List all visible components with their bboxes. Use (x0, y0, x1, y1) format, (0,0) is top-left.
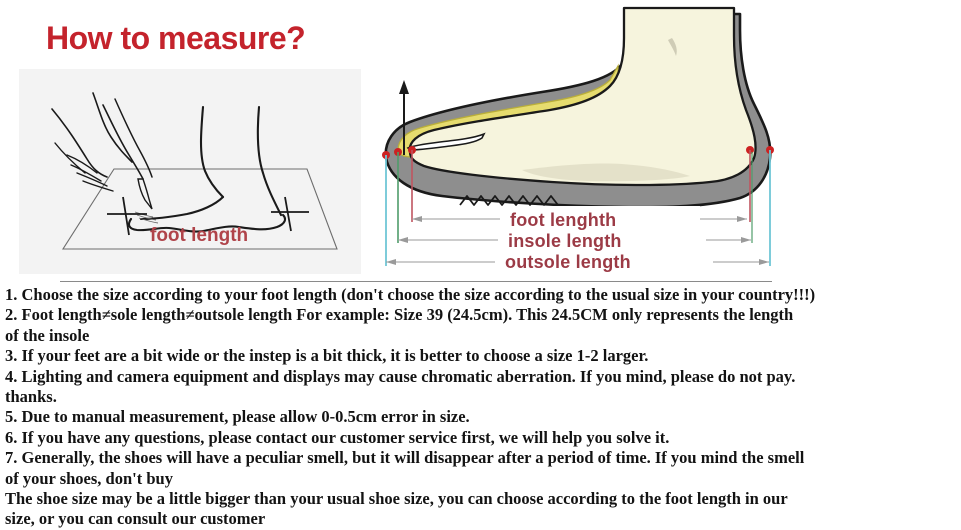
note-line: 1. Choose the size according to your foo… (5, 285, 958, 305)
note-line: 5. Due to manual measurement, please all… (5, 407, 958, 427)
note-line: of the insole (5, 326, 958, 346)
note-line: 4. Lighting and camera equipment and dis… (5, 367, 958, 387)
note-line: of your shoes, don't buy (5, 469, 958, 489)
shoe-diagram-panel: foot lenghth insole length outsole lengt… (372, 0, 961, 282)
outsole-length-dimension-label: outsole length (505, 252, 631, 273)
shoe-cross-section-illustration (372, 0, 961, 282)
note-line: size, or you can consult our customer (5, 509, 958, 529)
page-title: How to measure? (46, 18, 366, 58)
note-line: 2. Foot length≠sole length≠outsole lengt… (5, 305, 958, 325)
foot-length-dimension-label: foot lenghth (510, 210, 616, 231)
sizing-notes: 1. Choose the size according to your foo… (5, 285, 958, 530)
page-root: How to measure? (0, 0, 961, 530)
how-to-measure-panel: How to measure? (0, 0, 372, 282)
note-line: The shoe size may be a little bigger tha… (5, 489, 958, 509)
diagram-area: How to measure? (0, 0, 961, 282)
note-line: 6. If you have any questions, please con… (5, 428, 958, 448)
note-line: thanks. (5, 387, 958, 407)
section-divider (60, 281, 772, 282)
note-line: 3. If your feet are a bit wide or the in… (5, 346, 958, 366)
insole-length-dimension-label: insole length (508, 231, 622, 252)
note-line: 7. Generally, the shoes will have a pecu… (5, 448, 958, 468)
left-foot-length-label: foot length (150, 225, 330, 247)
